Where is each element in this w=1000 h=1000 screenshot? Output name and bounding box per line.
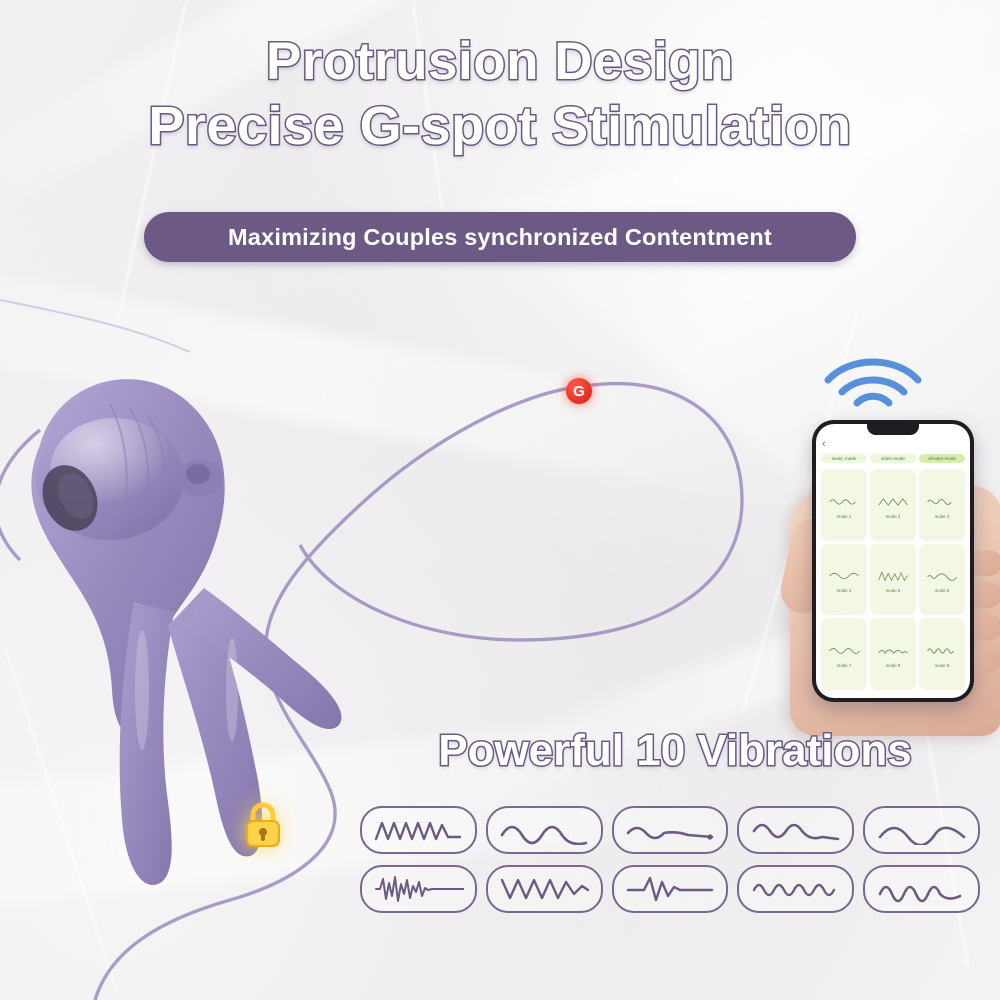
phone-notch xyxy=(867,424,919,435)
pattern-10-dense-wave[interactable] xyxy=(863,865,980,913)
headline-line-1: Protrusion Design xyxy=(266,32,734,91)
pattern-9-fast-ripple[interactable] xyxy=(737,865,854,913)
mode-label: mode 5 xyxy=(886,588,901,593)
headline-line-2: Precise G-spot Stimulation xyxy=(0,96,1000,156)
pattern-5-long-swell[interactable] xyxy=(863,806,980,854)
pattern-2-smooth-wave[interactable] xyxy=(486,806,603,854)
feature-title: Powerful 10 Vibrations xyxy=(380,726,970,776)
lock-icon xyxy=(241,800,285,850)
vibration-pattern-row xyxy=(360,865,980,913)
pattern-1-tight-zigzag[interactable] xyxy=(360,806,477,854)
mode-cell[interactable]: mode 7 xyxy=(821,618,867,690)
mode-cell[interactable]: mode 1 xyxy=(821,469,867,541)
back-icon[interactable]: ‹ xyxy=(822,438,826,450)
pattern-7-sawtooth[interactable] xyxy=(486,865,603,913)
mode-cell[interactable]: mode 3 xyxy=(919,469,965,541)
mode-tabs: music mode video mode vibrator mode xyxy=(816,452,970,466)
mode-cell[interactable]: mode 2 xyxy=(870,469,916,541)
mode-label: mode 1 xyxy=(837,514,852,519)
mode-grid: mode 1 mode 2 mode 3 mode 4 xyxy=(816,466,970,698)
subtitle-banner: Maximizing Couples synchronized Contentm… xyxy=(144,212,856,262)
mode-label: mode 8 xyxy=(886,663,901,668)
smartphone: ‹ music mode video mode vibrator mode mo… xyxy=(812,420,974,702)
mode-cell[interactable]: mode 9 xyxy=(919,618,965,690)
mode-cell[interactable]: mode 4 xyxy=(821,544,867,616)
mode-label: mode 2 xyxy=(886,514,901,519)
tab-music-mode[interactable]: music mode xyxy=(821,454,867,463)
pattern-3-gentle-ripple[interactable] xyxy=(612,806,729,854)
tab-vibrator-mode[interactable]: vibrator mode xyxy=(919,454,965,463)
vibration-pattern-list xyxy=(360,806,980,924)
pattern-8-single-spike[interactable] xyxy=(612,865,729,913)
mode-cell[interactable]: mode 8 xyxy=(870,618,916,690)
phone-app-preview: ‹ music mode video mode vibrator mode mo… xyxy=(790,400,1000,730)
mode-label: mode 6 xyxy=(935,588,950,593)
tab-video-mode[interactable]: video mode xyxy=(870,454,916,463)
page-title: Protrusion Design Precise G-spot Stimula… xyxy=(0,32,1000,156)
mode-label: mode 9 xyxy=(935,663,950,668)
product-banner: Protrusion Design Precise G-spot Stimula… xyxy=(0,0,1000,1000)
pattern-4-rolling-wave[interactable] xyxy=(737,806,854,854)
subtitle-text: Maximizing Couples synchronized Contentm… xyxy=(228,224,772,251)
mode-label: mode 7 xyxy=(837,663,852,668)
mode-label: mode 3 xyxy=(935,514,950,519)
pattern-6-spiky-burst[interactable] xyxy=(360,865,477,913)
g-spot-badge: G xyxy=(566,378,592,404)
app-screen: ‹ music mode video mode vibrator mode mo… xyxy=(816,424,970,698)
mode-cell[interactable]: mode 5 xyxy=(870,544,916,616)
vibration-pattern-row xyxy=(360,806,980,854)
mode-label: mode 4 xyxy=(837,588,852,593)
mode-cell[interactable]: mode 6 xyxy=(919,544,965,616)
